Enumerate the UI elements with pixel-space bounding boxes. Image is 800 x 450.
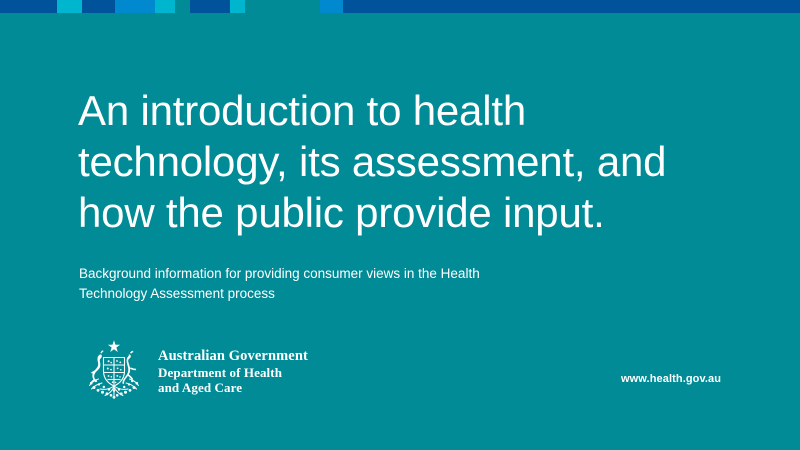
- topbar-segment-dark-blue-4: [343, 0, 800, 13]
- topbar-segment-cyan-2: [155, 0, 175, 13]
- logo-government-line: Australian Government: [158, 348, 308, 364]
- logo-department-lines: Department of Health and Aged Care: [158, 365, 308, 395]
- australian-coat-of-arms-icon: [78, 338, 150, 404]
- logo-department-line-1: Department of Health: [158, 365, 308, 380]
- topbar-segment-bright-blue-2: [320, 0, 343, 13]
- presentation-slide: An introduction to health technology, it…: [0, 0, 800, 450]
- topbar-segment-dark-blue-3: [190, 0, 230, 13]
- topbar-segment-bright-blue-1: [115, 0, 155, 13]
- logo-department-line-2: and Aged Care: [158, 380, 308, 395]
- subtitle: Background information for providing con…: [79, 264, 559, 303]
- website-url[interactable]: www.health.gov.au: [621, 373, 721, 385]
- topbar-segment-teal-1: [175, 0, 190, 13]
- topbar-segment-cyan-3: [230, 0, 245, 13]
- subtitle-line-1: Background information for providing con…: [79, 264, 559, 284]
- logo-wordmark: Australian Government Department of Heal…: [158, 347, 308, 395]
- topbar-segment-dark-blue-1: [0, 0, 57, 13]
- topbar-segment-dark-blue-2: [82, 0, 115, 13]
- australian-government-logo: Australian Government Department of Heal…: [78, 338, 308, 404]
- top-color-bar: [0, 0, 800, 13]
- page-title: An introduction to health technology, it…: [78, 85, 698, 238]
- topbar-segment-teal-2: [245, 0, 320, 13]
- topbar-segment-cyan-1: [57, 0, 82, 13]
- subtitle-line-2: Technology Assessment process: [79, 284, 559, 304]
